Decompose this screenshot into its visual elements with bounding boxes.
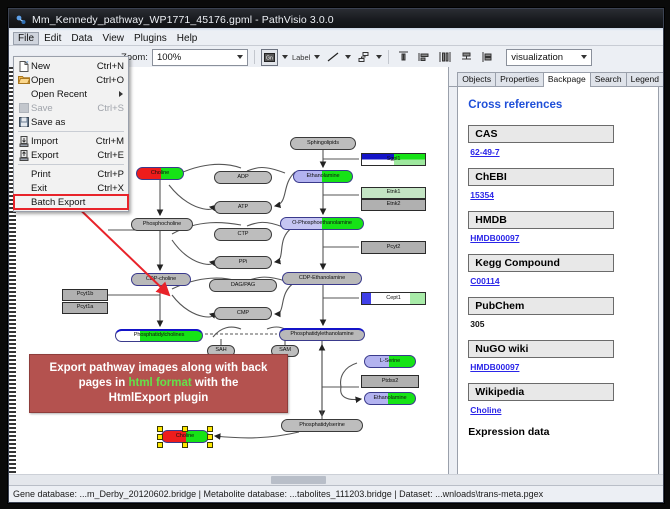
node-atp[interactable]: ATP — [214, 201, 272, 214]
menu-item-accel: Ctrl+E — [97, 150, 128, 161]
label-dropdown-icon[interactable] — [314, 55, 320, 59]
menu-plugins[interactable]: Plugins — [129, 32, 172, 45]
node-label: Sgpl1 — [387, 157, 401, 163]
import-icon — [16, 136, 31, 147]
node-l-serine[interactable]: L-Serine — [364, 355, 416, 368]
node-pcyt1b[interactable]: Pcyt1b — [62, 289, 108, 301]
menu-bar[interactable]: File Edit Data View Plugins Help — [9, 31, 663, 46]
menu-help[interactable]: Help — [172, 32, 203, 45]
node-phosphatidylserine[interactable]: Phosphatidylserine — [281, 419, 363, 432]
menu-separator-2 — [18, 164, 124, 165]
pathvisio-icon — [15, 14, 27, 26]
tab-objects[interactable]: Objects — [457, 72, 496, 86]
node-sphingolipids[interactable]: Sphingolipids — [290, 137, 356, 150]
file-menu-dropdown[interactable]: New Ctrl+N Open Ctrl+O Open Recent Save … — [13, 56, 129, 212]
xref-value-kegg[interactable]: C00114 — [470, 276, 648, 286]
tab-backpage[interactable]: Backpage — [543, 72, 591, 87]
tab-legend[interactable]: Legend — [626, 72, 664, 86]
line-dropdown-icon[interactable] — [345, 55, 351, 59]
menu-item-accel: Ctrl+P — [97, 169, 128, 180]
menu-item-accel: Ctrl+M — [96, 136, 128, 147]
node-label: Phosphatidylcholines — [134, 333, 185, 339]
tab-properties[interactable]: Properties — [495, 72, 544, 86]
node-label: PPi — [239, 260, 247, 266]
menu-item-label: Batch Export — [31, 197, 128, 208]
side-panel: Objects Properties Backpage Search Legen… — [449, 67, 663, 502]
node-label: Sphingolipids — [307, 141, 339, 147]
window-title: Mm_Kennedy_pathway_WP1771_45176.gpml - P… — [32, 14, 334, 26]
distribute-vertical-icon[interactable] — [458, 49, 475, 66]
chevron-down-icon — [237, 55, 243, 59]
title-bar: Mm_Kennedy_pathway_WP1771_45176.gpml - P… — [9, 9, 663, 31]
menu-item-label: Save — [31, 103, 97, 114]
align-left-icon[interactable] — [416, 49, 433, 66]
node-cdp-choline[interactable]: CDP-choline — [131, 273, 191, 286]
folder-icon — [16, 75, 31, 85]
node-label: Phosphatidylserine — [299, 423, 344, 429]
menu-item-batch-export[interactable]: Batch Export — [14, 195, 128, 209]
xref-value-nugo[interactable]: HMDB00097 — [470, 362, 648, 372]
align-top-icon[interactable] — [395, 49, 412, 66]
chevron-down-icon-2 — [581, 55, 587, 59]
menu-item-label: Print — [31, 169, 97, 180]
menu-item-label: New — [31, 61, 97, 72]
visualization-combo[interactable]: visualization — [506, 49, 592, 66]
label-button[interactable]: Label — [292, 53, 310, 62]
node-label: ADP — [237, 175, 248, 181]
svg-text:Gn: Gn — [266, 55, 273, 61]
node-cmp[interactable]: CMP — [214, 307, 272, 320]
node-phosphatidylcholines[interactable]: Phosphatidylcholines — [115, 329, 203, 342]
xref-source-cas: CAS — [468, 125, 614, 143]
zoom-combo[interactable]: 100% — [152, 49, 248, 66]
node-ethanolamine-2[interactable]: Ethanolamine — [364, 392, 416, 405]
node-cept1[interactable]: Cept1 — [361, 292, 426, 305]
menu-item-open-recent[interactable]: Open Recent — [14, 87, 128, 101]
menu-item-open[interactable]: Open Ctrl+O — [14, 73, 128, 87]
node-etnk2[interactable]: Etnk2 — [361, 199, 426, 211]
node-label: Phosphocholine — [143, 222, 181, 228]
menu-item-accel: Ctrl+S — [97, 103, 128, 114]
xref-value-cas[interactable]: 62-49-7 — [470, 147, 648, 157]
distribute-horizontal-icon[interactable] — [437, 49, 454, 66]
node-adp[interactable]: ADP — [214, 171, 272, 184]
menu-item-save-as[interactable]: Save as — [14, 115, 128, 129]
status-bar: Gene database: ...m_Derby_20120602.bridg… — [9, 485, 663, 502]
menu-item-print[interactable]: Print Ctrl+P — [14, 167, 128, 181]
node-o-phosphoethanolamine[interactable]: O-Phosphoethanolamine — [280, 217, 364, 230]
annotation-line2-post: with the — [192, 377, 239, 389]
visualization-value: visualization — [511, 52, 563, 63]
node-ctp[interactable]: CTP — [214, 228, 272, 241]
xref-source-pubchem: PubChem — [468, 297, 614, 315]
node-ppi[interactable]: PPi — [214, 256, 272, 269]
save-icon — [16, 103, 31, 113]
annotation-line2-pre: pages in — [79, 377, 129, 389]
node-phosphocholine[interactable]: Phosphocholine — [131, 218, 193, 231]
new-file-icon — [16, 61, 31, 72]
zoom-value: 100% — [157, 52, 181, 63]
node-sgpl1[interactable]: Sgpl1 — [361, 153, 426, 166]
annotation-text: Export pathway images along with back pa… — [44, 361, 274, 406]
node-label: L-Serine — [380, 359, 400, 365]
node-label: Etnk1 — [387, 190, 401, 196]
node-label: Ethanolamine — [306, 174, 339, 180]
status-text: Gene database: ...m_Derby_20120602.bridg… — [13, 489, 543, 499]
datanode-dropdown-icon[interactable] — [282, 55, 288, 59]
menu-item-label: Open — [31, 75, 96, 86]
annotation-line3: HtmlExport plugin — [109, 392, 209, 404]
node-label: O-Phosphoethanolamine — [292, 221, 352, 227]
menu-item-label: Import — [31, 136, 96, 147]
sidebar-tabs[interactable]: Objects Properties Backpage Search Legen… — [449, 71, 663, 87]
node-label: Pcyt1b — [77, 292, 94, 298]
node-label: Cept1 — [386, 296, 400, 302]
chevron-right-icon — [119, 91, 123, 97]
toolbar-separator-2 — [388, 50, 389, 64]
node-cdp-ethanolamine[interactable]: CDP-Ethanolamine — [282, 272, 362, 285]
xref-source-nugo: NuGO wiki — [468, 340, 614, 358]
node-label: Choline — [151, 171, 169, 177]
node-label: Ethanolamine — [373, 396, 406, 402]
annotation-line1: Export pathway images along with back — [50, 362, 268, 374]
annotation-highlight: html format — [128, 377, 191, 389]
menu-item-label: Exit — [31, 183, 97, 194]
menu-item-accel: Ctrl+N — [97, 61, 128, 72]
menu-view[interactable]: View — [97, 32, 129, 45]
menu-separator-1 — [18, 131, 124, 132]
node-label: Etnk2 — [387, 202, 401, 208]
save-as-icon — [16, 117, 31, 127]
toolbar-separator — [254, 50, 255, 64]
menu-item-accel: Ctrl+X — [97, 183, 128, 194]
menu-item-exit[interactable]: Exit Ctrl+X — [14, 181, 128, 195]
xref-value-pubchem: 305 — [470, 319, 648, 329]
line-icon[interactable] — [324, 49, 341, 66]
node-dag-pag[interactable]: DAG/PAG — [209, 279, 277, 292]
backpage-content[interactable]: Cross references CAS 62-49-7 ChEBI 15354… — [457, 87, 659, 498]
menu-item-save[interactable]: Save Ctrl+S — [14, 101, 128, 115]
expression-data-heading: Expression data — [468, 426, 648, 438]
xref-source-hmdb: HMDB — [468, 211, 614, 229]
node-label: Ptdss2 — [382, 379, 399, 385]
menu-item-label: Save as — [31, 117, 124, 128]
node-label: SAM — [279, 348, 291, 354]
menu-item-import[interactable]: Import Ctrl+M — [14, 134, 128, 148]
menu-item-label: Export — [31, 150, 97, 161]
node-label: CDP-choline — [146, 277, 176, 283]
scrollbar-thumb[interactable] — [271, 476, 326, 484]
cross-references-heading: Cross references — [468, 99, 648, 111]
interaction-dropdown-icon[interactable] — [376, 55, 382, 59]
menu-edit[interactable]: Edit — [39, 32, 66, 45]
xref-source-kegg: Kegg Compound — [468, 254, 614, 272]
node-phosphatidylethanolamine[interactable]: Phosphatidylethanolamine — [279, 328, 365, 341]
pathvisio-window: Mm_Kennedy_pathway_WP1771_45176.gpml - P… — [8, 8, 664, 503]
node-label: Phosphatidylethanolamine — [290, 332, 353, 338]
node-label: CMP — [237, 311, 249, 317]
node-label: CTP — [238, 232, 249, 238]
tab-search[interactable]: Search — [590, 72, 627, 86]
node-ptdss2[interactable]: Ptdss2 — [361, 375, 419, 388]
node-ethanolamine-1[interactable]: Ethanolamine — [293, 170, 353, 183]
node-label: Choline — [176, 434, 194, 440]
node-etnk1[interactable]: Etnk1 — [361, 187, 426, 199]
menu-item-export[interactable]: Export Ctrl+E — [14, 148, 128, 162]
menu-item-new[interactable]: New Ctrl+N — [14, 59, 128, 73]
node-choline-top[interactable]: Choline — [136, 167, 184, 180]
node-pcyt2[interactable]: Pcyt2 — [361, 241, 426, 254]
annotation-callout: Export pathway images along with back pa… — [29, 354, 288, 413]
stack-center-icon[interactable] — [479, 49, 496, 66]
export-icon — [16, 150, 31, 161]
menu-file[interactable]: File — [13, 32, 39, 45]
xref-source-wikipedia: Wikipedia — [468, 383, 614, 401]
node-label: SAH — [215, 348, 226, 354]
xref-value-hmdb[interactable]: HMDB00097 — [470, 233, 648, 243]
datanode-icon[interactable]: Gn — [261, 49, 278, 66]
xref-value-chebi[interactable]: 15354 — [470, 190, 648, 200]
menu-item-label: Open Recent — [31, 89, 119, 100]
xref-source-chebi: ChEBI — [468, 168, 614, 186]
interaction-icon[interactable] — [355, 49, 372, 66]
node-label: Pcyt2 — [387, 245, 401, 251]
node-label: CDP-Ethanolamine — [299, 276, 345, 282]
node-label: Pcyt1a — [77, 305, 94, 311]
node-label: ATP — [238, 205, 248, 211]
menu-data[interactable]: Data — [66, 32, 97, 45]
node-label: DAG/PAG — [231, 283, 255, 289]
node-pcyt1a[interactable]: Pcyt1a — [62, 302, 108, 314]
menu-item-accel: Ctrl+O — [96, 75, 128, 86]
xref-value-wikipedia[interactable]: Choline — [470, 405, 648, 415]
